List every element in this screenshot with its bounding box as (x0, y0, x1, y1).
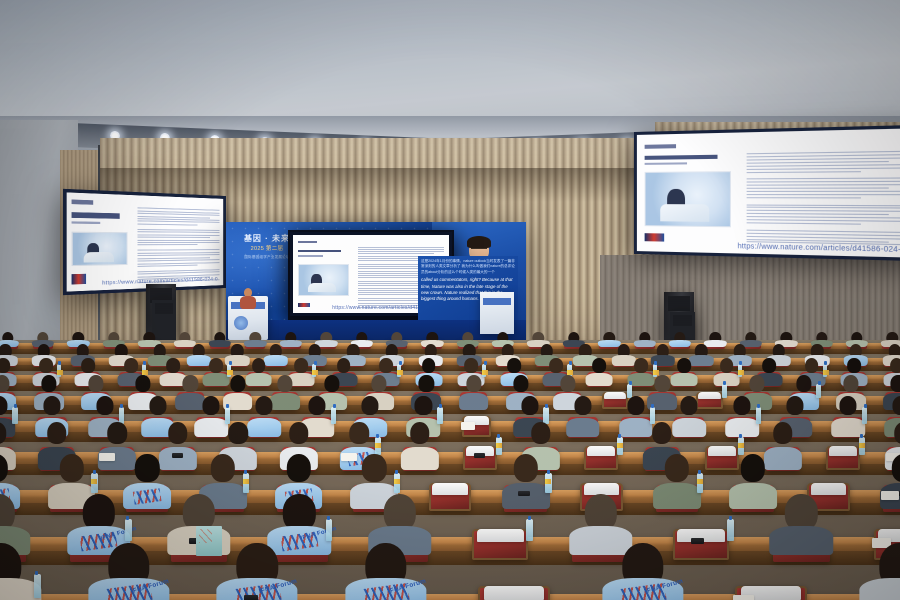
audience-member: IFNA Forum (217, 543, 297, 600)
audience-member-torso (459, 393, 489, 410)
article-text-line (137, 257, 210, 258)
water-bottle (738, 364, 742, 377)
desk-front-panel (0, 349, 900, 354)
stage-speaker-person (240, 288, 256, 308)
audience-member (0, 454, 19, 500)
audience-member (492, 332, 514, 345)
article-text-line (746, 178, 900, 180)
article-headline-bar (72, 212, 120, 219)
audience-member-head (211, 454, 235, 481)
article-text-line (746, 181, 900, 183)
audience-member-forum-tshirt: IFNA Forum (345, 578, 426, 600)
audience-member-head (136, 375, 151, 392)
audience-member (811, 332, 833, 345)
audience-member-head (560, 375, 575, 392)
audience-member-forum-tshirt: IFNA Forum (602, 578, 683, 600)
article-photo (72, 232, 128, 266)
water-bottle (331, 407, 336, 424)
water-bottle (125, 519, 132, 541)
audience-member-head (96, 396, 113, 415)
audience-member-head (665, 454, 689, 481)
subtitle-chinese: 这是2024年1月份的事情，nature outlook当时发表了一篇非常深刻的… (421, 259, 515, 275)
audience-member-head (124, 358, 138, 373)
article-text-line (137, 250, 219, 251)
water-bottle (243, 473, 249, 493)
phone-on-desk (244, 595, 258, 600)
audience-member-head (762, 358, 776, 373)
water-bottle (727, 519, 734, 541)
audience-member-head (59, 454, 83, 481)
water-bottle (34, 574, 42, 598)
article-body-text (746, 140, 900, 246)
audience-member-head (41, 375, 56, 392)
speaker-hair (467, 236, 491, 248)
audience-member-head (415, 396, 432, 415)
phone-on-desk (474, 453, 485, 458)
audience-member (315, 332, 337, 345)
audience-member (421, 332, 443, 345)
article-byline-bar (72, 221, 101, 224)
water-bottle (543, 407, 548, 424)
audience-member (209, 332, 231, 345)
podium-band (483, 298, 511, 305)
audience-member-head (677, 358, 691, 373)
audience-member (846, 332, 868, 345)
audience-member-head (592, 358, 606, 373)
chair-headrest-cover (829, 446, 857, 456)
audience-member-head (787, 396, 804, 415)
article-text-line (746, 161, 888, 164)
audience-member (199, 454, 246, 500)
audience-member (351, 332, 373, 345)
audience-member-torso (401, 447, 439, 470)
audience-member-head (785, 494, 817, 530)
stage-speaker-torso (240, 296, 256, 309)
audience-member-head (773, 422, 793, 444)
audience-member-head (840, 396, 857, 415)
article-text-line (746, 167, 900, 170)
audience-member (832, 396, 865, 431)
audience-member (0, 494, 29, 546)
audience-member (726, 396, 759, 431)
audience-member (48, 454, 95, 500)
article-paragraph-gap (746, 200, 900, 202)
article-text-line (137, 215, 210, 217)
audience-member: IFNA Forum (268, 494, 330, 546)
audience-member-head (513, 375, 528, 392)
audience-member-head (230, 375, 245, 392)
audience-member-head (256, 396, 273, 415)
audience-member (729, 454, 776, 500)
speaker-glasses-icon (471, 248, 487, 252)
audience-member-head (635, 358, 649, 373)
water-bottle (617, 437, 623, 455)
article-text-line (137, 239, 219, 240)
audience-member: IFNA Forum (67, 494, 129, 546)
audience-member-head (168, 422, 188, 444)
water-bottle (397, 364, 401, 377)
audience-member-head (135, 454, 159, 481)
paper-on-desk (881, 491, 899, 500)
phone-on-desk (172, 453, 183, 458)
paper-on-desk (733, 595, 754, 600)
audience-member (124, 454, 171, 500)
article-paragraph-gap (746, 174, 900, 177)
audience-member-head (680, 396, 697, 415)
article-text-line (746, 207, 900, 209)
paper-on-desk (99, 453, 115, 461)
article-brand-bar (644, 145, 675, 149)
audience-member (351, 454, 398, 500)
audience-member-head (82, 358, 96, 373)
audience-member-head (47, 422, 67, 444)
audience-member-forum-tshirt (123, 483, 171, 509)
article-text-line (137, 237, 210, 238)
article-text-line (137, 234, 219, 235)
audience-member-head (289, 422, 309, 444)
chair-headrest-cover (584, 483, 620, 495)
article-page-right (637, 128, 900, 258)
article-logo-chip (644, 233, 664, 241)
audience-member-head (362, 396, 379, 415)
audience-member: IFNA Forum (603, 543, 683, 600)
article-text-line (746, 171, 861, 173)
audience-member-head (890, 358, 900, 373)
audience-area: IFNA ForumIFNA ForumIFNA ForumIFNA Forum… (0, 330, 900, 600)
article-text-line (137, 231, 219, 232)
audience-member-head (337, 358, 351, 373)
conference-hall-photo: https://www.nature.com/articles/d41586-0… (0, 0, 900, 600)
audience-member (457, 332, 479, 345)
article-headline-bar (644, 155, 717, 160)
water-bottle (859, 437, 865, 455)
audience-member-head (513, 454, 537, 481)
water-bottle (545, 473, 551, 493)
audience-member-head (466, 375, 481, 392)
audience-member-head (531, 422, 551, 444)
audience-member (860, 543, 900, 600)
audience-member-head (43, 396, 60, 415)
water-bottle (697, 473, 703, 493)
audience-member-torso (859, 578, 900, 600)
audience-member-head (252, 358, 266, 373)
audience-member (563, 332, 585, 345)
audience-member (174, 332, 196, 345)
audience-member-head (410, 422, 430, 444)
article-photo (298, 264, 349, 296)
audience-member-head (372, 375, 387, 392)
audience-member-head (796, 375, 811, 392)
audience-member-head (584, 494, 616, 530)
audience-member-head (741, 454, 765, 481)
audience-member-head (324, 375, 339, 392)
article-text-line (137, 223, 197, 224)
water-bottle (375, 437, 381, 455)
audience-member (527, 332, 549, 345)
water-bottle (225, 407, 230, 424)
article-text-line (746, 223, 861, 225)
article-text-line (137, 254, 219, 255)
article-paragraph-gap (137, 247, 219, 248)
audience-member-head (734, 396, 751, 415)
audience-member-head (309, 396, 326, 415)
audience-member-forum-tshirt: IFNA Forum (88, 578, 169, 600)
audience-member (32, 332, 54, 345)
audience-member (459, 375, 488, 405)
article-text-line (746, 213, 888, 215)
water-bottle (12, 407, 17, 424)
water-bottle (756, 407, 761, 424)
article-logo-chip (72, 274, 86, 285)
article-text-line (137, 244, 197, 245)
chair-headrest-cover (477, 529, 524, 542)
audience-member-head (655, 375, 670, 392)
audience-member (881, 332, 900, 345)
audience-member (275, 454, 322, 500)
article-text-line (746, 184, 900, 186)
audience-member-head (149, 396, 166, 415)
audience-member (598, 332, 620, 345)
audience-member-head (349, 422, 369, 444)
article-text-line (137, 262, 219, 264)
audience-member (704, 332, 726, 345)
audience-member-head (652, 422, 672, 444)
audience-member (401, 422, 439, 463)
podium-right (480, 292, 514, 334)
chair-headrest-cover (811, 483, 847, 495)
article-paragraph-gap (137, 226, 219, 228)
article-text-line (137, 259, 219, 261)
audience-member-head (847, 358, 861, 373)
audience-member (669, 332, 691, 345)
audience-member (770, 494, 832, 546)
audience-member-torso (770, 526, 833, 555)
article-text-line (746, 210, 900, 212)
article-byline-bar (298, 255, 324, 256)
water-bottle (816, 384, 821, 399)
paper-on-desk (461, 422, 476, 430)
audience-member-head (720, 358, 734, 373)
audience-member-head (167, 358, 181, 373)
chair-headrest-cover (432, 483, 468, 495)
audience-member-head (507, 358, 521, 373)
audience-member-head (627, 396, 644, 415)
dna-helix-icon (133, 488, 161, 505)
audience-member-head (286, 454, 310, 481)
audience-member-head (202, 396, 219, 415)
phone-on-desk (691, 538, 704, 544)
audience-member-head (82, 494, 114, 530)
water-bottle (738, 437, 744, 455)
audience-member-head (464, 358, 478, 373)
water-bottle (496, 437, 502, 455)
audience-member (280, 332, 302, 345)
audience-member-head (362, 454, 386, 481)
audience-member-head (521, 396, 538, 415)
audience-member-head (894, 422, 900, 444)
audience-member-head (39, 358, 53, 373)
audience-member (386, 332, 408, 345)
article-text-line (746, 194, 900, 195)
audience-member (634, 332, 656, 345)
audience-member (569, 494, 631, 546)
audience-member-head (183, 375, 198, 392)
phone-on-desk (518, 491, 530, 496)
article-text-line (746, 216, 900, 219)
audience-member (244, 332, 266, 345)
article-byline-bar (644, 162, 686, 165)
article-text-line (137, 252, 219, 253)
audience-member-head (891, 375, 900, 392)
article-photo (644, 171, 730, 227)
audience-member-head (893, 396, 900, 415)
tote-bag (196, 526, 222, 556)
article-body-text (137, 202, 219, 283)
audience-member-head (88, 375, 103, 392)
water-bottle (862, 407, 867, 424)
audience-member (566, 396, 599, 431)
audience-member (369, 494, 431, 546)
audience-member (586, 358, 612, 382)
article-text-line (746, 191, 900, 192)
article-text-line (137, 221, 219, 223)
water-bottle (326, 519, 333, 541)
audience-member-head (209, 358, 223, 373)
audience-member (775, 332, 797, 345)
audience-member-head (805, 358, 819, 373)
article-brand-bar (298, 241, 317, 243)
water-bottle (394, 473, 400, 493)
audience-member-head (749, 375, 764, 392)
water-bottle (437, 407, 442, 424)
water-bottle (312, 364, 316, 377)
audience-member-head (294, 358, 308, 373)
water-bottle (823, 364, 827, 377)
audience-member-head (107, 422, 127, 444)
chair-headrest-cover (484, 586, 544, 600)
article-text-line (746, 188, 888, 189)
article-text-line (137, 265, 197, 267)
audience-member: IFNA Forum (89, 543, 169, 600)
audience-member (103, 332, 125, 345)
audience-member-head (384, 494, 416, 530)
audience-member-torso (585, 373, 612, 386)
article-logo-chip (298, 303, 310, 307)
audience-member-head (550, 358, 564, 373)
audience-member-head (574, 396, 591, 415)
audience-member-head (422, 358, 436, 373)
audience-member-torso (653, 483, 701, 509)
article-text-line (746, 197, 861, 198)
water-bottle (91, 473, 97, 493)
audience-member-head (0, 396, 7, 415)
audience-member (138, 332, 160, 345)
audience-member-torso (566, 418, 600, 438)
audience-member-head (0, 454, 8, 481)
audience-member (740, 332, 762, 345)
water-bottle (119, 407, 124, 424)
article-text-line (137, 218, 219, 220)
display-screen-left[interactable]: https://www.nature.com/articles/d41586-0… (63, 189, 226, 295)
article-brand-bar (72, 199, 93, 204)
audience-member-head (0, 494, 14, 530)
audience-member-head (283, 494, 315, 530)
audience-member-head (228, 422, 248, 444)
audience-member (654, 454, 701, 500)
article-headline-bar (298, 250, 341, 252)
water-bottle (650, 407, 655, 424)
audience-member-head (892, 454, 900, 481)
audience-member-head (0, 422, 6, 444)
chair-headrest-cover (587, 446, 615, 456)
audience-member-head (419, 375, 434, 392)
audience-member-head (0, 358, 10, 373)
podium-logo-icon (234, 316, 248, 330)
audience-member-head (379, 358, 393, 373)
article-text-line (746, 158, 900, 161)
article-text-line (746, 164, 900, 167)
article-text-line (137, 229, 219, 230)
audience-member-head (277, 375, 292, 392)
audience-member: IFNA Forum (346, 543, 426, 600)
audience-member-torso (725, 418, 759, 438)
article-text-line (746, 204, 900, 206)
water-bottle (526, 519, 533, 541)
audience-member (67, 332, 89, 345)
audience-member (0, 332, 19, 345)
article-text-line (746, 219, 900, 222)
audience-member (713, 358, 739, 382)
audience-member-head (844, 375, 859, 392)
display-screen-right[interactable]: https://www.nature.com/articles/d41586-0… (634, 125, 900, 261)
audience-member-head (0, 375, 9, 392)
